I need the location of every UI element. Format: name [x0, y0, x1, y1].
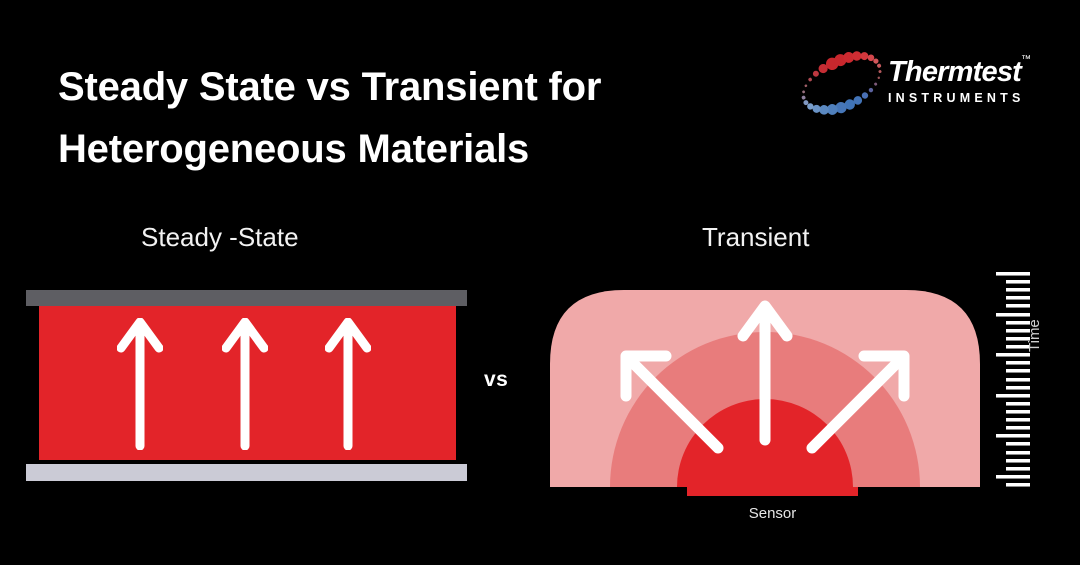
time-ruler-minor-tick — [1006, 459, 1030, 463]
time-ruler-minor-tick — [1006, 296, 1030, 300]
sensor-bar — [687, 487, 858, 496]
time-ruler-minor-tick — [1006, 378, 1030, 382]
steady-state-heat-flow-arrow-1 — [117, 318, 163, 450]
time-ruler-minor-tick — [1006, 369, 1030, 373]
time-ruler-minor-tick — [1006, 386, 1030, 390]
time-ruler-minor-tick — [1006, 442, 1030, 446]
thermtest-logo: Thermtest ™ INSTRUMENTS — [798, 44, 1030, 128]
time-ruler-minor-tick — [1006, 451, 1030, 455]
time-ruler-minor-tick — [1006, 304, 1030, 308]
time-ruler-minor-tick — [1006, 483, 1030, 487]
logo-ring-icon — [798, 46, 890, 128]
time-ruler-minor-tick — [1006, 410, 1030, 414]
time-ruler-minor-tick — [1006, 426, 1030, 430]
slide-canvas: Steady State vs Transient for Heterogene… — [0, 0, 1080, 565]
time-ruler-major-tick — [996, 272, 1030, 276]
time-ruler — [996, 272, 1030, 487]
page-title-line-2: Heterogeneous Materials — [58, 118, 758, 180]
time-ruler-major-tick — [996, 475, 1030, 479]
transient-diagram — [540, 258, 990, 498]
page-title: Steady State vs Transient for Heterogene… — [58, 56, 758, 180]
logo-text-block: Thermtest ™ INSTRUMENTS — [888, 58, 1033, 105]
steady-state-heat-flow-arrow-3 — [325, 318, 371, 450]
time-ruler-minor-tick — [1006, 402, 1030, 406]
steady-state-bottom-plate — [26, 464, 467, 481]
logo-trademark-symbol: ™ — [1021, 55, 1031, 65]
time-ruler-major-tick — [996, 434, 1030, 438]
comparison-separator-label: vs — [484, 368, 508, 392]
time-ruler-minor-tick — [1006, 418, 1030, 422]
steady-state-top-plate — [26, 290, 467, 306]
time-ruler-minor-tick — [1006, 280, 1030, 284]
sensor-label: Sensor — [687, 505, 858, 522]
page-title-line-1: Steady State vs Transient for — [58, 56, 758, 118]
time-ruler-minor-tick — [1006, 467, 1030, 471]
time-ruler-minor-tick — [1006, 361, 1030, 365]
time-axis-label: Time — [1026, 319, 1043, 352]
logo-subtitle: INSTRUMENTS — [888, 92, 1033, 105]
time-ruler-major-tick — [996, 394, 1030, 398]
logo-wordmark: Thermtest — [888, 58, 1033, 87]
time-ruler-major-tick — [996, 313, 1030, 317]
time-ruler-minor-tick — [1006, 288, 1030, 292]
transient-caption: Transient — [702, 222, 809, 253]
steady-state-caption: Steady -State — [141, 222, 299, 253]
time-ruler-major-tick — [996, 353, 1030, 357]
steady-state-heat-flow-arrow-2 — [222, 318, 268, 450]
